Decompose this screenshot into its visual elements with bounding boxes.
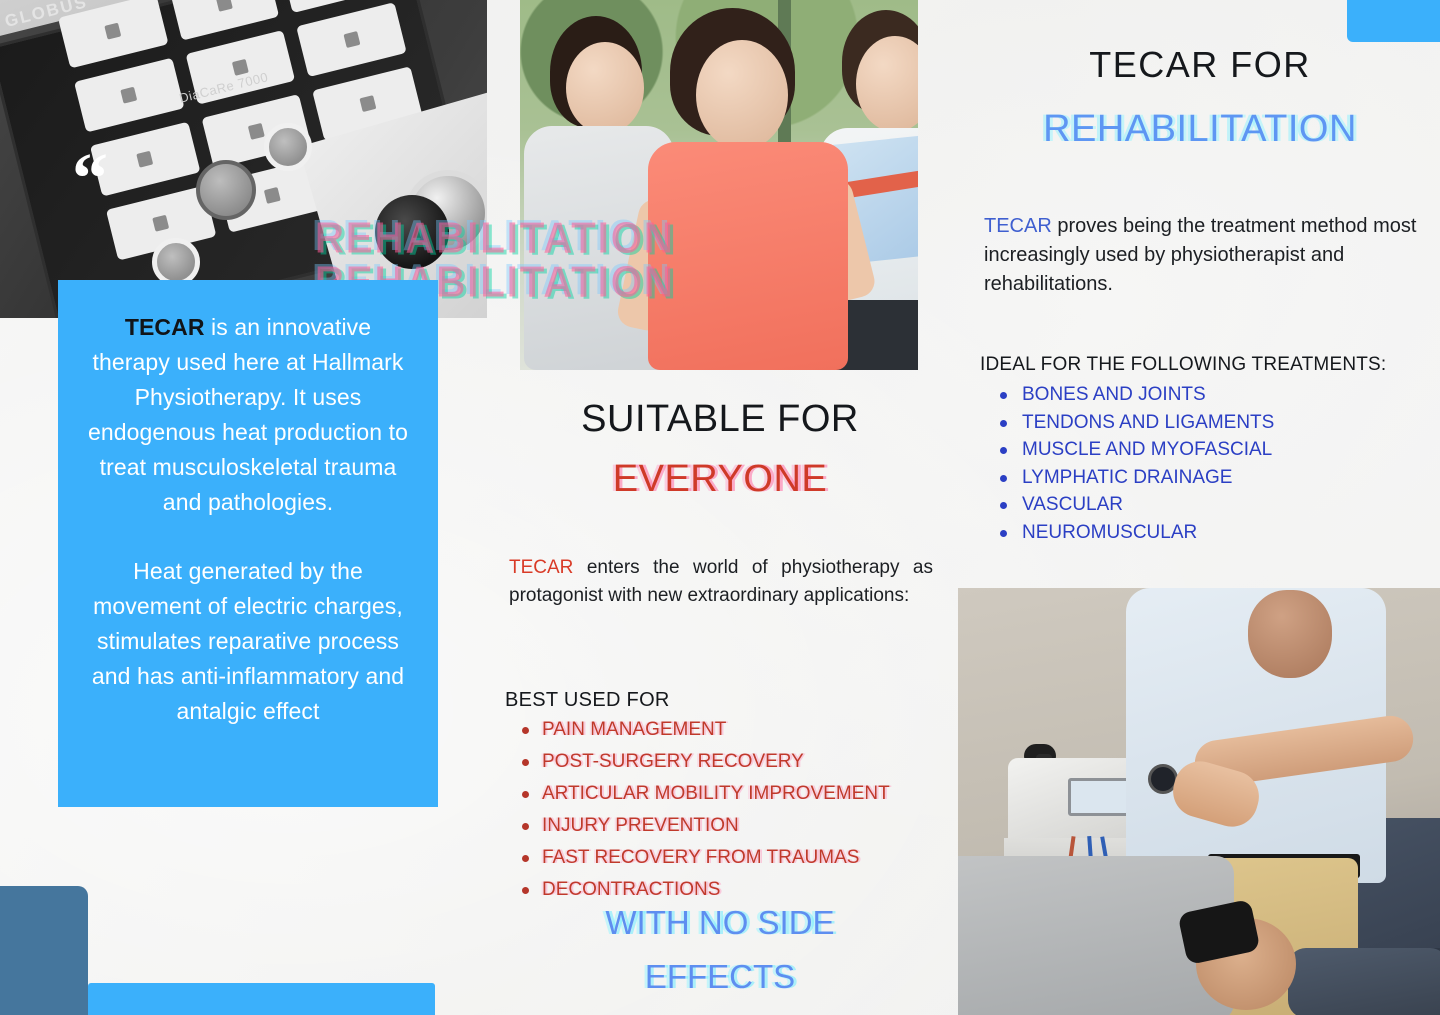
list-item: BONES AND JOINTS	[988, 381, 1408, 409]
decor-rect-top-right	[1347, 0, 1440, 42]
list-item: FAST RECOVERY FROM TRAUMAS	[512, 844, 932, 871]
list-item: TENDONS AND LIGAMENTS	[988, 409, 1408, 437]
best-used-for-title: BEST USED FOR	[505, 689, 670, 712]
brochure-page: GLOBUS DiaCaRe 7000 “ REHABILITATION REH…	[0, 0, 1440, 1015]
left-blue-text-panel: TECAR is an innovative therapy used here…	[58, 280, 438, 807]
everyone-heading: EVERYONE	[510, 458, 930, 501]
left-paragraph-1: TECAR is an innovative therapy used here…	[84, 310, 412, 520]
list-item: ARTICULAR MOBILITY IMPROVEMENT	[512, 780, 932, 807]
middle-paragraph-rest: enters the world of physiotherapy as pro…	[509, 557, 933, 606]
decor-rect-bottom-left-blue	[88, 983, 435, 1015]
ideal-treatments-list: BONES AND JOINTS TENDONS AND LIGAMENTS M…	[988, 381, 1408, 546]
tecar-for-heading: TECAR FOR	[975, 44, 1425, 86]
rehabilitation-heading: REHABILITATION	[960, 108, 1440, 151]
left-paragraph-1-rest: is an innovative therapy used here at Ha…	[88, 314, 408, 515]
tecar-keyword: TECAR	[984, 215, 1052, 237]
tecar-keyword: TECAR	[509, 557, 573, 578]
list-item: PAIN MANAGEMENT	[512, 716, 932, 743]
no-side-effects-line-1: WITH NO SIDE	[510, 904, 930, 942]
list-item: DECONTRACTIONS	[512, 876, 932, 903]
no-side-effects-line-2: EFFECTS	[510, 958, 930, 996]
right-paragraph: TECAR proves being the treatment method …	[984, 212, 1418, 299]
ideal-treatments-title: IDEAL FOR THE FOLLOWING TREATMENTS:	[980, 354, 1386, 376]
list-item: VASCULAR	[988, 491, 1408, 519]
physiotherapist-treating-patient-photo	[958, 588, 1440, 1015]
decor-rect-bottom-left-slate	[0, 886, 88, 1015]
best-used-for-list: PAIN MANAGEMENT POST-SURGERY RECOVERY AR…	[512, 716, 932, 908]
three-women-running-photo	[520, 0, 918, 370]
list-item: LYMPHATIC DRAINAGE	[988, 464, 1408, 492]
list-item: POST-SURGERY RECOVERY	[512, 748, 932, 775]
tecar-keyword: TECAR	[125, 314, 205, 340]
left-paragraph-2: Heat generated by the movement of electr…	[84, 554, 412, 729]
list-item: NEUROMUSCULAR	[988, 519, 1408, 547]
middle-paragraph: TECAR enters the world of physiotherapy …	[509, 554, 933, 610]
list-item: MUSCLE AND MYOFASCIAL	[988, 436, 1408, 464]
suitable-for-heading: SUITABLE FOR	[510, 398, 930, 441]
list-item: INJURY PREVENTION	[512, 812, 932, 839]
quote-mark-icon: “	[72, 142, 108, 214]
